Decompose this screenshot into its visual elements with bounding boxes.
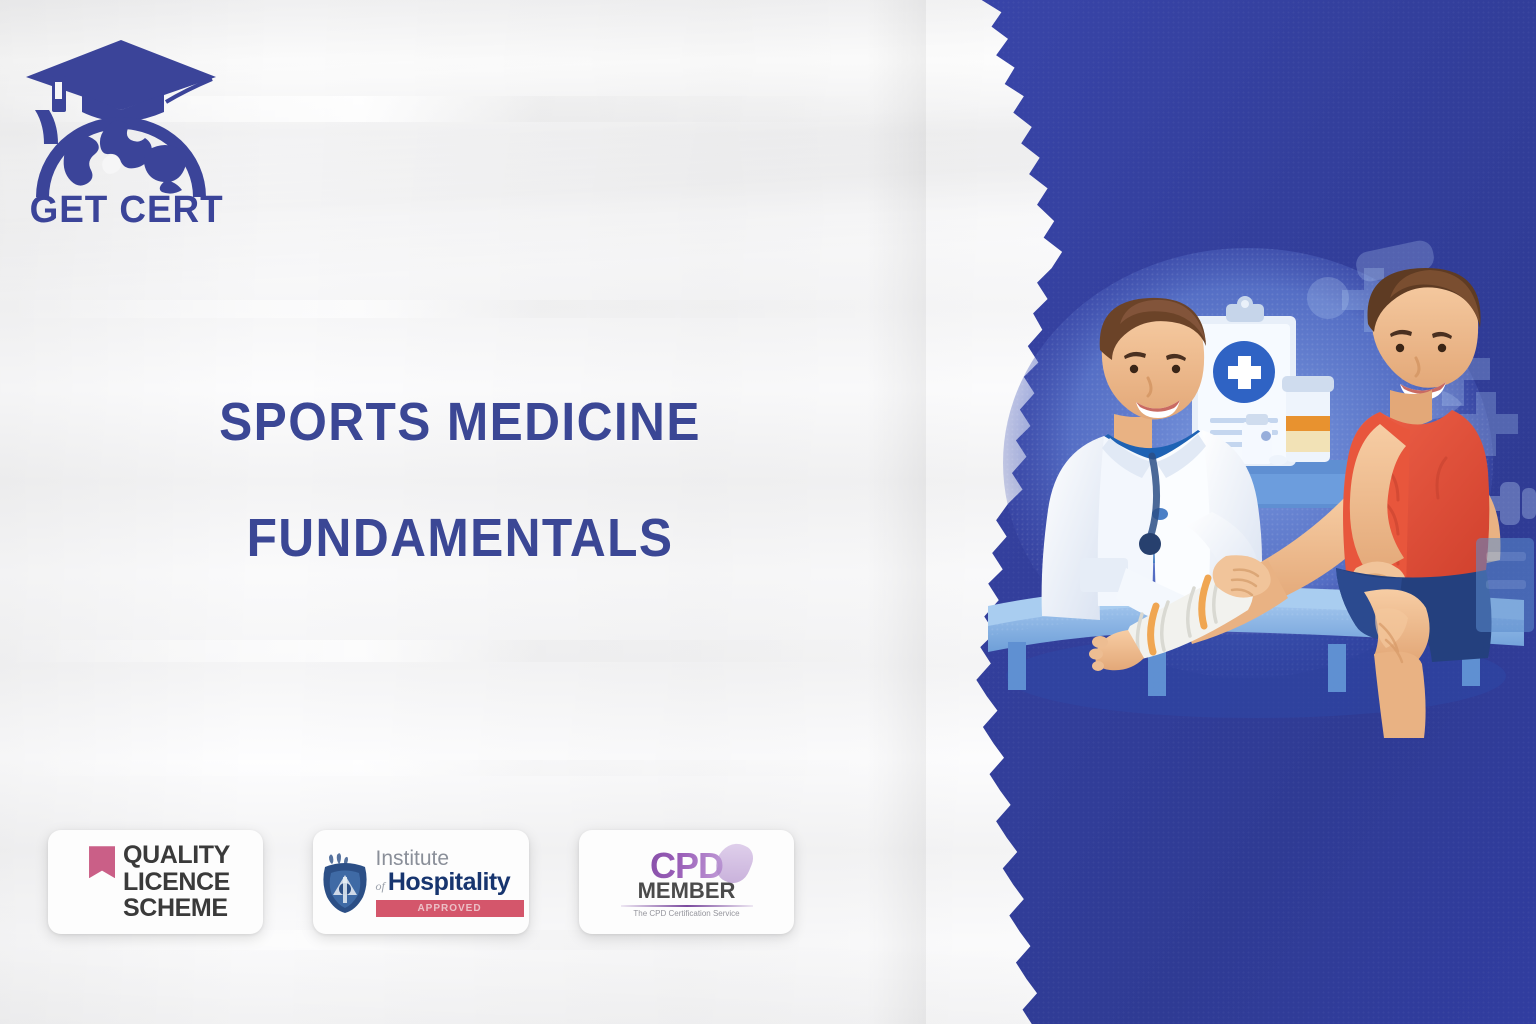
title-line-1: SPORTS MEDICINE [92, 395, 828, 449]
badge-cpd-member[interactable]: CPD MEMBER The CPD Certification Service [579, 830, 794, 934]
qls-line-1: QUALITY [123, 842, 230, 869]
graduation-cap-globe-icon [26, 40, 216, 197]
ioh-bar-text: APPROVED [417, 903, 481, 914]
side-cabinet [1476, 538, 1534, 632]
crest-emblem-icon [319, 851, 371, 913]
hero-illustration [976, 238, 1536, 738]
ioh-line-1: Institute [376, 848, 524, 869]
pill-bottle [1242, 414, 1272, 464]
ioh-line-2: Hospitality [388, 870, 510, 895]
badge-quality-licence-scheme[interactable]: QUALITY LICENCE SCHEME [48, 830, 263, 934]
page-title: SPORTS MEDICINE FUNDAMENTALS [60, 395, 860, 565]
qls-line-2: LICENCE [123, 869, 230, 896]
ioh-of-word: of [376, 879, 385, 894]
brand-logo[interactable]: GET CERTIFY [16, 30, 226, 225]
title-line-2: FUNDAMENTALS [92, 511, 828, 565]
bookmark-ribbon-icon [89, 846, 115, 878]
medicine-jar [1282, 376, 1334, 462]
cpd-member-label: MEMBER [607, 880, 767, 902]
cpd-divider [621, 905, 753, 907]
logo-wordmark: GET CERTIFY [30, 187, 226, 225]
accreditation-badges: QUALITY LICENCE SCHEME [48, 830, 794, 934]
badge-institute-of-hospitality[interactable]: Institute of Hospitality APPROVED [313, 830, 529, 934]
course-banner: GET CERTIFY SPORTS MEDICINE FUNDAMENTALS… [0, 0, 1536, 1024]
cpd-subtitle: The CPD Certification Service [607, 909, 767, 919]
ioh-approved-bar: APPROVED [376, 900, 524, 917]
qls-line-3: SCHEME [123, 895, 230, 922]
